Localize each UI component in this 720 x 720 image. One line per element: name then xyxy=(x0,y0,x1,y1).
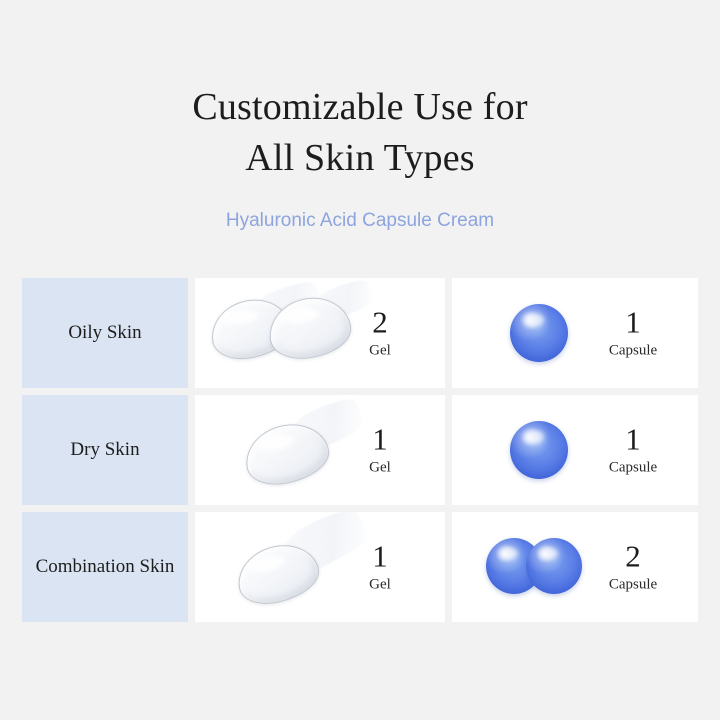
gel-count: 1 xyxy=(343,423,417,457)
table-row: Oily Skin 2 Gel 1 Cap xyxy=(22,278,698,388)
gel-amount-cell: 1 Gel xyxy=(195,512,445,622)
gel-amount-cell: 2 Gel xyxy=(195,278,445,388)
capsule-amount: 1 Capsule xyxy=(596,306,670,361)
capsule-amount-cell: 2 Capsule xyxy=(452,512,698,622)
gel-amount: 2 Gel xyxy=(343,306,417,361)
capsule-bead-icon xyxy=(466,512,616,622)
gel-amount-cell: 1 Gel xyxy=(195,395,445,505)
gel-count: 2 xyxy=(343,306,417,340)
product-infographic: Customizable Use for All Skin Types Hyal… xyxy=(0,0,720,720)
capsule-amount: 2 Capsule xyxy=(596,540,670,595)
skin-type-label: Combination Skin xyxy=(22,512,188,622)
gel-unit: Gel xyxy=(343,458,417,478)
page-title: Customizable Use for All Skin Types xyxy=(0,82,720,184)
gel-unit: Gel xyxy=(343,341,417,361)
capsule-count: 1 xyxy=(596,423,670,457)
page-title-line-2: All Skin Types xyxy=(0,133,720,184)
page-title-line-1: Customizable Use for xyxy=(0,82,720,133)
capsule-unit: Capsule xyxy=(596,341,670,361)
product-subtitle: Hyaluronic Acid Capsule Cream xyxy=(0,208,720,234)
capsule-amount: 1 Capsule xyxy=(596,423,670,478)
table-row: Dry Skin 1 Gel 1 Capsule xyxy=(22,395,698,505)
skin-type-label: Oily Skin xyxy=(22,278,188,388)
capsule-amount-cell: 1 Capsule xyxy=(452,278,698,388)
capsule-bead-icon xyxy=(466,278,616,388)
gel-amount: 1 Gel xyxy=(343,540,417,595)
capsule-count: 1 xyxy=(596,306,670,340)
skin-type-label: Dry Skin xyxy=(22,395,188,505)
capsule-count: 2 xyxy=(596,540,670,574)
capsule-unit: Capsule xyxy=(596,575,670,595)
table-row: Combination Skin 1 Gel 2 Capsule xyxy=(22,512,698,622)
gel-count: 1 xyxy=(343,540,417,574)
gel-amount: 1 Gel xyxy=(343,423,417,478)
capsule-bead-icon xyxy=(466,395,616,505)
capsule-amount-cell: 1 Capsule xyxy=(452,395,698,505)
usage-table: Oily Skin 2 Gel 1 Cap xyxy=(22,278,698,622)
gel-unit: Gel xyxy=(343,575,417,595)
capsule-unit: Capsule xyxy=(596,458,670,478)
